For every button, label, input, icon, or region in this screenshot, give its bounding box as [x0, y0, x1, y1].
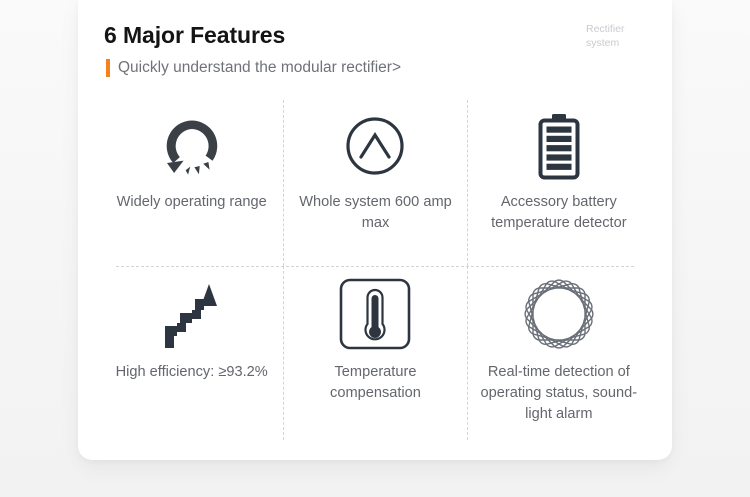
battery-full-icon [527, 100, 591, 192]
feature-label: Temperature compensation [288, 362, 463, 404]
corner-label: Rectifier system [586, 22, 650, 50]
feature-cell-whole-system-amp-max: Whole system 600 amp max [283, 100, 466, 266]
features-grid: Widely operating range Whole system 600 … [100, 100, 650, 440]
circle-chevron-up-icon [342, 100, 408, 192]
page-title: 6 Major Features [104, 22, 285, 49]
subtitle-row: Quickly understand the modular rectifier… [106, 59, 401, 77]
feature-cell-realtime-detection: Real-time detection of operating status,… [467, 266, 650, 440]
feature-cell-accessory-battery-temperature-detector: Accessory battery temperature detector [467, 100, 650, 266]
feature-cell-temperature-compensation: Temperature compensation [283, 266, 466, 440]
feature-label: High efficiency: ≥93.2% [116, 362, 268, 383]
feature-label: Real-time detection of operating status,… [468, 362, 650, 425]
thermometer-icon [337, 266, 413, 362]
features-row-bottom: High efficiency: ≥93.2% Temperature comp… [100, 266, 650, 440]
page-subtitle: Quickly understand the modular rectifier… [118, 59, 401, 77]
stairs-up-arrow-icon [159, 266, 225, 362]
rotating-squares-icon [521, 266, 597, 362]
page-background: 6 Major Features Quickly understand the … [0, 0, 750, 497]
features-card: 6 Major Features Quickly understand the … [78, 0, 672, 460]
feature-cell-widely-operating-range: Widely operating range [100, 100, 283, 266]
accent-bar-icon [106, 59, 110, 77]
feature-cell-high-efficiency: High efficiency: ≥93.2% [100, 266, 283, 440]
feature-label: Widely operating range [117, 192, 267, 213]
feature-label: Whole system 600 amp max [288, 192, 463, 234]
circular-arrow-icon [157, 100, 227, 192]
feature-label: Accessory battery temperature detector [468, 192, 650, 234]
features-row-top: Widely operating range Whole system 600 … [100, 100, 650, 266]
